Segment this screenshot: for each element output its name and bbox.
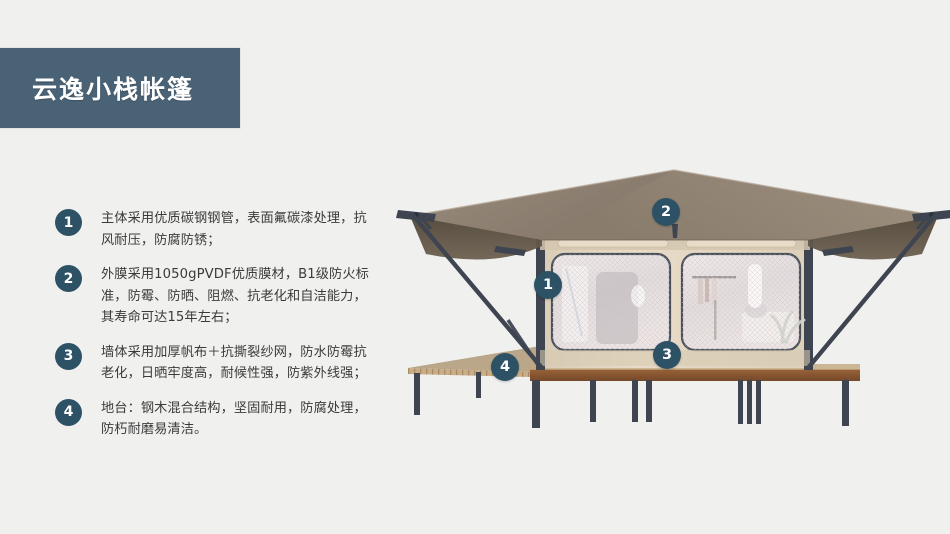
deck-leg-3 xyxy=(632,380,638,422)
porch-leg-1 xyxy=(414,373,420,415)
callout-badge-4[interactable]: 4 xyxy=(491,353,519,381)
deck-leg-4 xyxy=(646,380,652,422)
deck-leg-5 xyxy=(738,380,743,424)
roof-apex-fitting xyxy=(672,224,678,238)
deck-leg-7 xyxy=(756,380,761,424)
callout-badge-2[interactable]: 2 xyxy=(652,198,680,226)
deck-leg-1 xyxy=(532,380,540,428)
feature-list: 1 主体采用优质碳钢钢管，表面氟碳漆处理，抗风耐压，防腐防锈； 2 外膜采用10… xyxy=(55,208,375,454)
feature-badge-4: 4 xyxy=(55,399,82,426)
list-item: 4 地台：钢木混合结构，坚固耐用，防腐处理，防朽耐磨易清洁。 xyxy=(55,398,375,441)
feature-badge-2: 2 xyxy=(55,265,82,292)
callout-badge-3[interactable]: 3 xyxy=(653,341,681,369)
feature-badge-3: 3 xyxy=(55,343,82,370)
steel-frame-column-right xyxy=(804,230,813,370)
feature-text-3: 墙体采用加厚帆布＋抗撕裂纱网，防水防霉抗老化，日晒牢度高，耐候性强，防紫外线强； xyxy=(101,342,375,385)
list-item: 2 外膜采用1050gPVDF优质膜材，B1级防火标准，防霉、防晒、阻燃、抗老化… xyxy=(55,264,375,329)
title-banner: 云逸小栈帐篷 xyxy=(0,48,240,128)
deck-leg-6 xyxy=(747,380,752,424)
main-deck-edge xyxy=(530,369,860,381)
list-item: 1 主体采用优质碳钢钢管，表面氟碳漆处理，抗风耐压，防腐防锈； xyxy=(55,208,375,251)
feature-text-1: 主体采用优质碳钢钢管，表面氟碳漆处理，抗风耐压，防腐防锈； xyxy=(101,208,375,251)
roller-blind-right xyxy=(686,240,796,247)
feature-text-4: 地台：钢木混合结构，坚固耐用，防腐处理，防朽耐磨易清洁。 xyxy=(101,398,375,441)
roller-blind-left xyxy=(558,240,668,247)
porch-leg-2 xyxy=(476,372,481,398)
callout-badge-1[interactable]: 1 xyxy=(534,271,562,299)
tent-illustration xyxy=(390,150,950,450)
slide-canvas: 云逸小栈帐篷 1 主体采用优质碳钢钢管，表面氟碳漆处理，抗风耐压，防腐防锈； 2… xyxy=(0,0,950,534)
steel-frame-column-left xyxy=(536,230,545,370)
page-title: 云逸小栈帐篷 xyxy=(32,70,194,106)
feature-badge-1: 1 xyxy=(55,209,82,236)
feature-text-2: 外膜采用1050gPVDF优质膜材，B1级防火标准，防霉、防晒、阻燃、抗老化和自… xyxy=(101,264,375,329)
deck-leg-8 xyxy=(842,380,849,426)
list-item: 3 墙体采用加厚帆布＋抗撕裂纱网，防水防霉抗老化，日晒牢度高，耐候性强，防紫外线… xyxy=(55,342,375,385)
window-right xyxy=(682,254,804,350)
window-left xyxy=(552,254,670,350)
deck-leg-2 xyxy=(590,380,596,422)
